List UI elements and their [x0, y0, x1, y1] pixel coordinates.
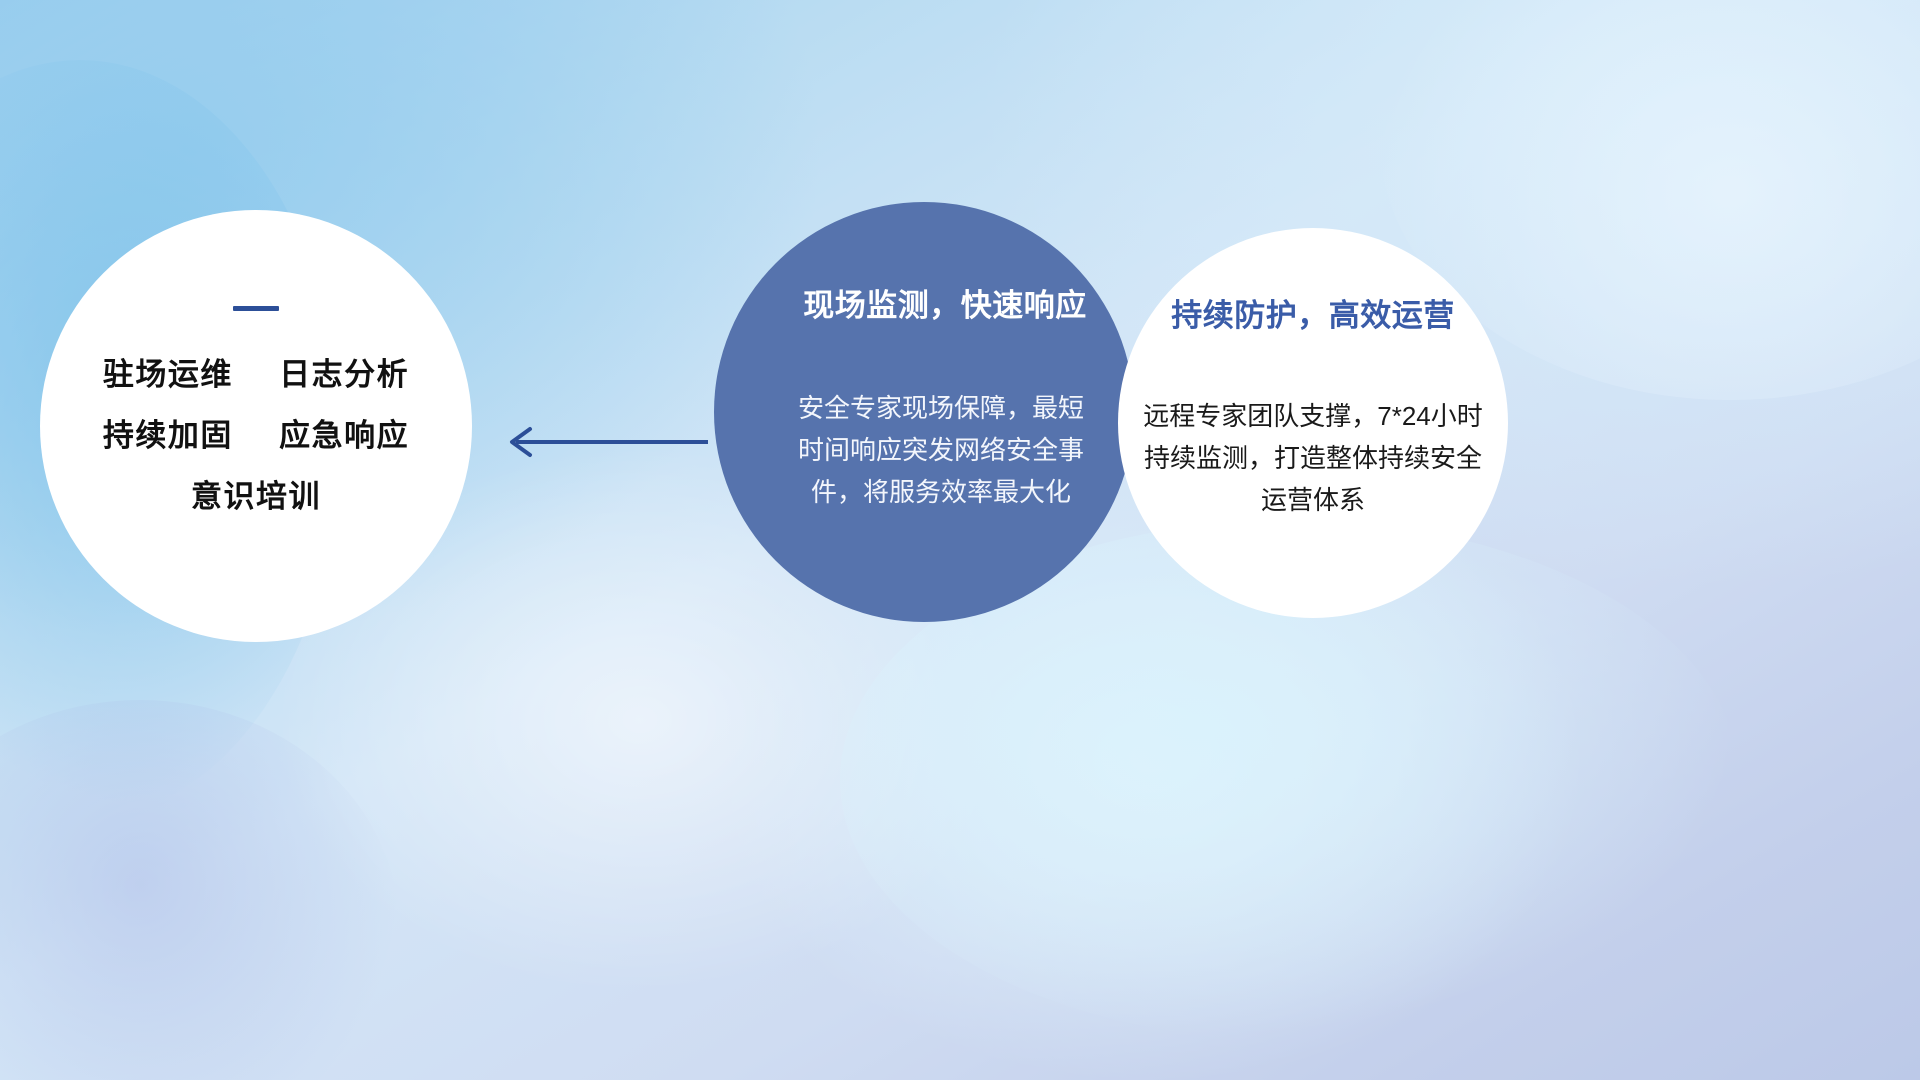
mid-circle-content: 现场监测，快速响应 安全专家现场保障，最短时间响应突发网络安全事件，将服务效率最… — [750, 280, 1098, 513]
right-circle-content: 持续防护，高效运营 远程专家团队支撑，7*24小时持续监测，打造整体持续安全运营… — [1128, 290, 1498, 521]
continuous-protection-circle: 持续防护，高效运营 远程专家团队支撑，7*24小时持续监测，打造整体持续安全运营… — [1118, 228, 1508, 618]
horizontal-dash-icon — [233, 306, 279, 311]
right-circle-title: 持续防护，高效运营 — [1128, 290, 1498, 335]
mid-circle-body: 安全专家现场保障，最短时间响应突发网络安全事件，将服务效率最大化 — [786, 387, 1096, 513]
capability-row-2: 持续加固 应急响应 — [40, 420, 472, 451]
arrow-left-icon — [498, 420, 710, 464]
right-circle-body: 远程专家团队支撑，7*24小时持续监测，打造整体持续安全运营体系 — [1132, 395, 1494, 521]
capability-row-3: 意识培训 — [40, 481, 472, 512]
background-glow-bottom-left — [0, 700, 400, 1080]
left-capability-circle: 驻场运维 日志分析 持续加固 应急响应 意识培训 — [40, 210, 472, 642]
mid-circle-title: 现场监测，快速响应 — [792, 280, 1098, 325]
capability-label: 应急响应 — [279, 418, 409, 453]
left-circle-content: 驻场运维 日志分析 持续加固 应急响应 意识培训 — [40, 306, 472, 512]
onsite-monitoring-circle: 现场监测，快速响应 安全专家现场保障，最短时间响应突发网络安全事件，将服务效率最… — [714, 202, 1134, 622]
capability-label: 驻场运维 — [103, 357, 233, 392]
capability-label: 意识培训 — [191, 479, 321, 514]
slide-canvas: 驻场运维 日志分析 持续加固 应急响应 意识培训 现场监测，快速响应 安全专家现… — [0, 0, 1920, 1080]
capability-label: 持续加固 — [103, 418, 233, 453]
capability-label: 日志分析 — [279, 357, 409, 392]
capability-row-1: 驻场运维 日志分析 — [40, 359, 472, 390]
